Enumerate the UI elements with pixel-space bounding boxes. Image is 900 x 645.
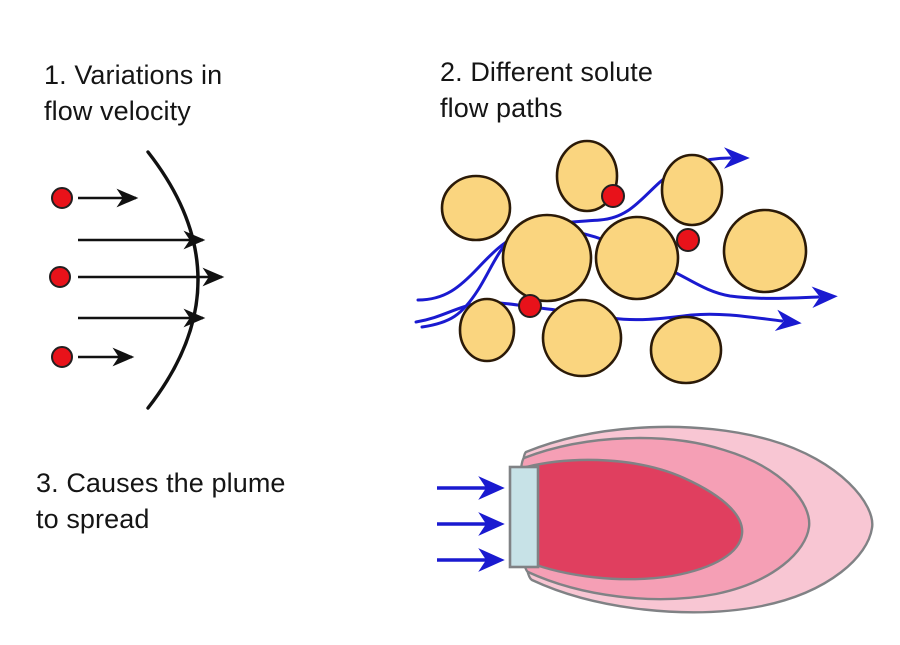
plume-contour-group xyxy=(519,427,872,612)
source-zone xyxy=(510,467,538,567)
inflow-arrow-group xyxy=(437,488,500,560)
slide-canvas: 1. Variations in flow velocity 2. Differ… xyxy=(0,0,900,645)
plume-spreading-diagram xyxy=(0,0,900,645)
